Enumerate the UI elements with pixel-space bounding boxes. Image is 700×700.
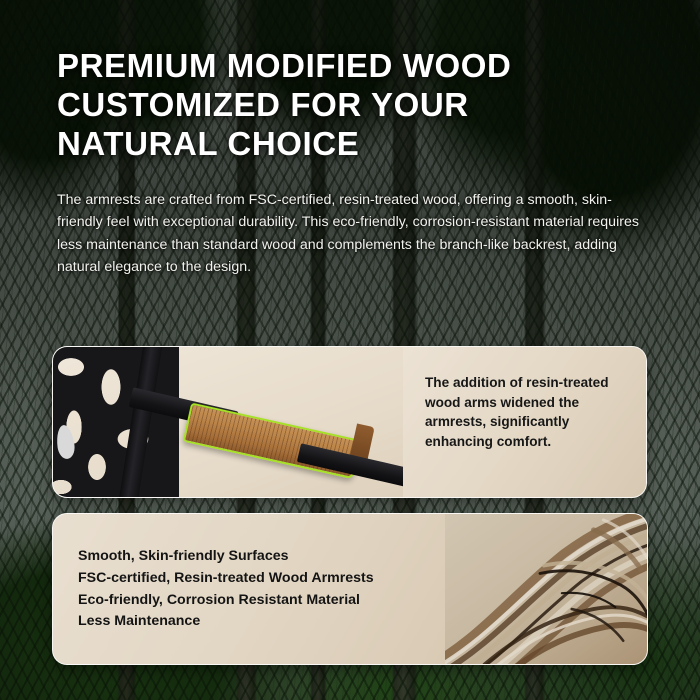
benefits-list: Smooth, Skin-friendly Surfaces FSC-certi…: [53, 514, 445, 664]
branch-backrest-panel: [53, 347, 179, 497]
callout-pane: The addition of resin-treated wood arms …: [403, 347, 646, 497]
page-title: PREMIUM MODIFIED WOOD CUSTOMIZED FOR YOU…: [57, 46, 657, 163]
wood-grain-image: [445, 514, 647, 664]
headline-line-3: NATURAL CHOICE: [57, 124, 657, 163]
benefits-card: Smooth, Skin-friendly Surfaces FSC-certi…: [52, 513, 648, 665]
armrest-photo: [53, 347, 403, 497]
list-item: Eco-friendly, Corrosion Resistant Materi…: [78, 590, 445, 612]
headline-line-1: PREMIUM MODIFIED WOOD: [57, 46, 657, 85]
body-paragraph: The armrests are crafted from FSC-certif…: [57, 189, 652, 279]
headline-line-2: CUSTOMIZED FOR YOUR: [57, 85, 657, 124]
list-item: Less Maintenance: [78, 611, 445, 633]
feature-card: The addition of resin-treated wood arms …: [52, 346, 647, 498]
list-item: Smooth, Skin-friendly Surfaces: [78, 546, 445, 568]
list-item: FSC-certified, Resin-treated Wood Armres…: [78, 568, 445, 590]
poster-canvas: PREMIUM MODIFIED WOOD CUSTOMIZED FOR YOU…: [0, 0, 700, 700]
callout-text: The addition of resin-treated wood arms …: [425, 373, 626, 451]
wood-grain-svg: [445, 514, 647, 664]
